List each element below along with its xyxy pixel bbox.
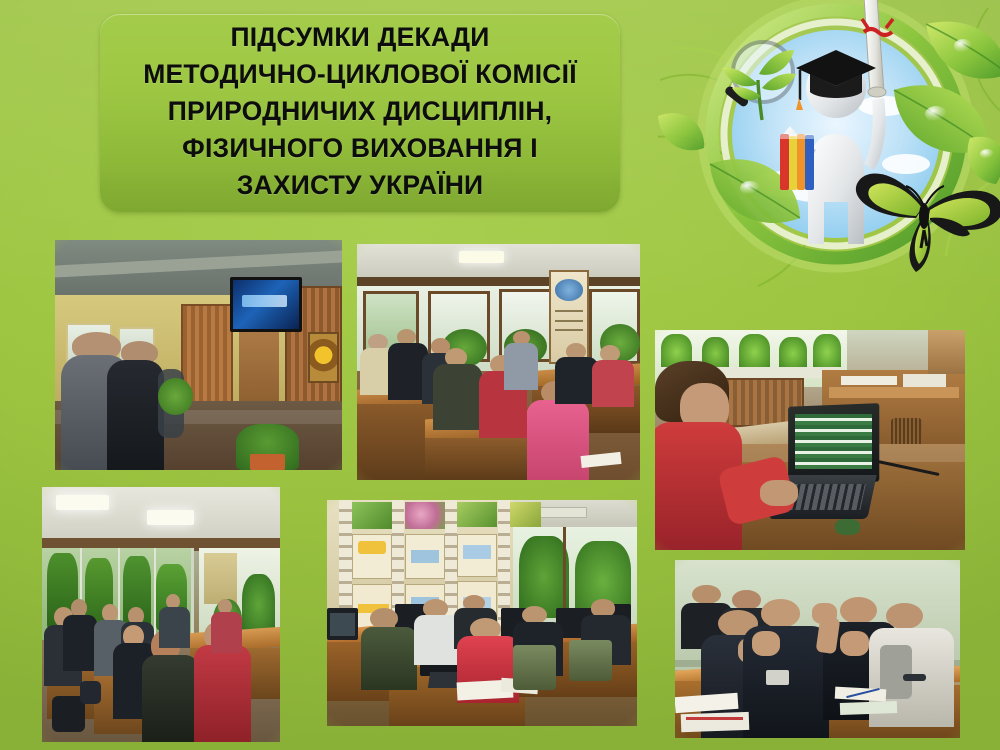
leaves-with-dewdrops-icon (658, 22, 1000, 223)
title-line-4: ФІЗИЧНОГО ВИХОВАННЯ І (182, 130, 538, 167)
photo-computer-lab: Computer laboratory with students at lap… (327, 500, 637, 726)
books-stack-icon (780, 134, 814, 190)
photo-classroom-lesson: Classroom of seated students at wooden d… (357, 244, 640, 480)
photo-corridor-display: Students in college corridor viewing a w… (55, 240, 342, 470)
title-line-2: МЕТОДИЧНО-ЦИКЛОВОЇ КОМІСІЇ (143, 56, 576, 93)
slide-title-banner: ПІДСУМКИ ДЕКАДИ МЕТОДИЧНО-ЦИКЛОВОЇ КОМІС… (100, 14, 620, 212)
magnifier-with-sprout-icon (722, 42, 796, 120)
diploma-scroll-icon (862, 0, 893, 97)
photo-woman-at-laptop: Woman in red sweater working at a laptop… (655, 330, 965, 550)
presentation-slide: ПІДСУМКИ ДЕКАДИ МЕТОДИЧНО-ЦИКЛОВОЇ КОМІС… (0, 0, 1000, 750)
graduate-figure-icon (780, 50, 886, 244)
title-line-3: ПРИРОДНИЧИХ ДИСЦИПЛІН, (168, 93, 553, 130)
eco-graduate-emblem (658, 0, 1000, 288)
butterfly-icon (856, 174, 1000, 272)
title-line-1: ПІДСУМКИ ДЕКАДИ (231, 19, 490, 56)
title-line-5: ЗАХИСТУ УКРАЇНИ (237, 167, 484, 204)
photo-classroom-green-window: Classroom with students at desks beside … (42, 487, 280, 742)
graduation-cap-icon (796, 50, 876, 110)
photo-students-raising-hands: Group of young men at desks, one raising… (675, 560, 960, 738)
